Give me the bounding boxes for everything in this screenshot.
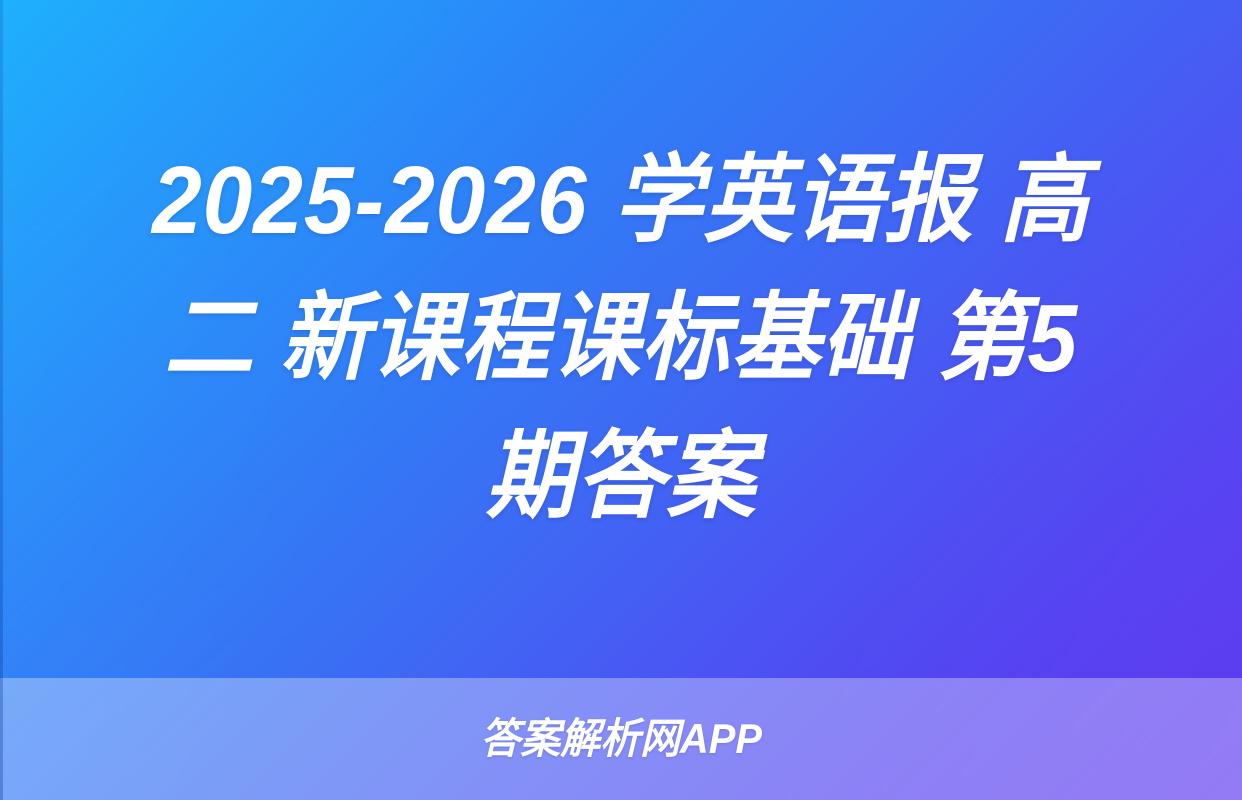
left-edge-rule [0, 0, 3, 800]
page-title-line-2: 二 新课程课标基础 第5 [77, 270, 1165, 408]
answer-poster-card: 2025-2026 学英语报 高 二 新课程课标基础 第5 期答案 答案解析网A… [0, 0, 1242, 800]
page-title-line-3: 期答案 [77, 408, 1165, 546]
poster-title-block: 2025-2026 学英语报 高 二 新课程课标基础 第5 期答案 [0, 0, 1242, 678]
app-brand-label: 答案解析网APP [480, 716, 762, 762]
footer-brand-band: 答案解析网APP [0, 678, 1242, 800]
page-title-line-1: 2025-2026 学英语报 高 [77, 132, 1165, 270]
